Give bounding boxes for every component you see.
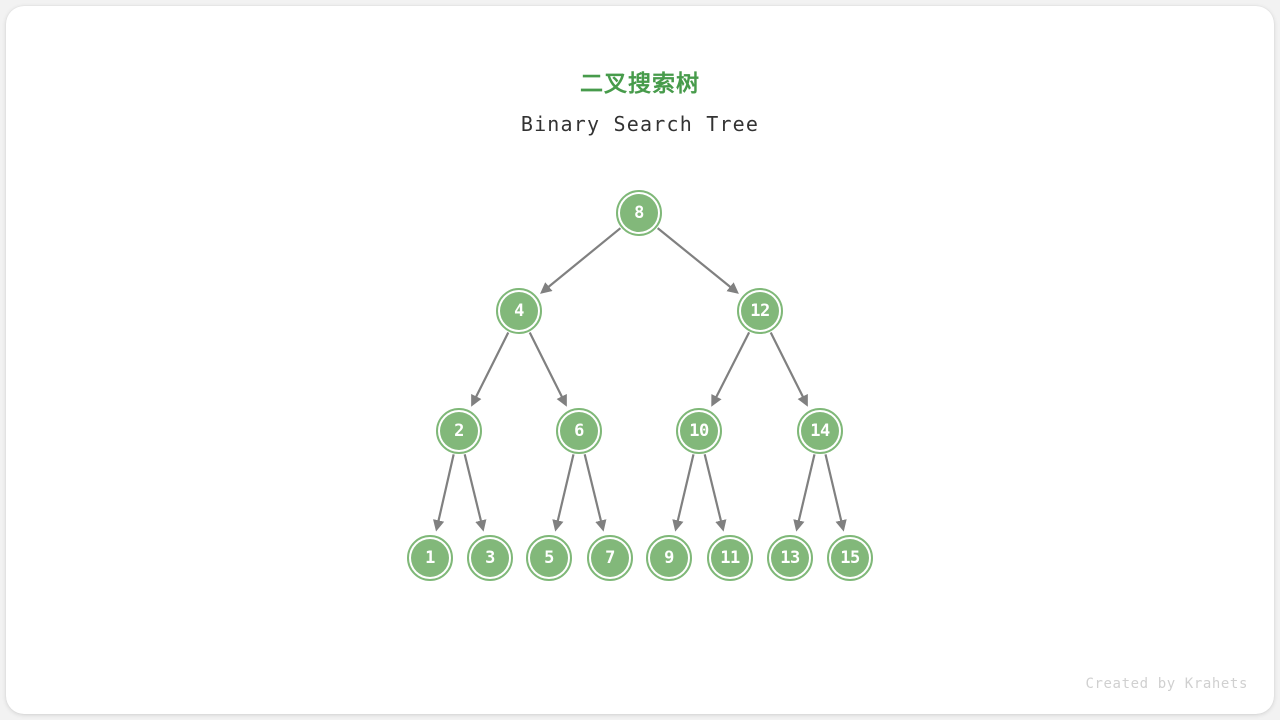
tree-edge-8-to-12 xyxy=(658,228,737,292)
tree-node-label: 15 xyxy=(829,537,871,579)
tree-node-11[interactable]: 11 xyxy=(707,535,753,581)
tree-edge-2-to-3 xyxy=(465,454,483,529)
tree-edges-layer xyxy=(6,6,1274,714)
tree-node-label: 14 xyxy=(799,410,841,452)
tree-node-label: 8 xyxy=(618,192,660,234)
tree-edge-10-to-11 xyxy=(705,454,723,529)
diagram-card: 二叉搜索树 Binary Search Tree 841226101413579… xyxy=(6,6,1274,714)
tree-edge-12-to-14 xyxy=(771,332,807,404)
tree-node-label: 2 xyxy=(438,410,480,452)
tree-node-8[interactable]: 8 xyxy=(616,190,662,236)
tree-node-label: 13 xyxy=(769,537,811,579)
tree-edge-8-to-4 xyxy=(542,228,620,292)
tree-node-label: 10 xyxy=(678,410,720,452)
tree-node-4[interactable]: 4 xyxy=(496,288,542,334)
tree-edge-10-to-9 xyxy=(676,454,694,528)
tree-edge-4-to-2 xyxy=(472,332,508,404)
tree-node-10[interactable]: 10 xyxy=(676,408,722,454)
tree-node-5[interactable]: 5 xyxy=(526,535,572,581)
tree-node-6[interactable]: 6 xyxy=(556,408,602,454)
tree-node-label: 11 xyxy=(709,537,751,579)
tree-edge-12-to-10 xyxy=(713,332,750,404)
tree-node-3[interactable]: 3 xyxy=(467,535,513,581)
tree-edge-6-to-7 xyxy=(585,454,603,529)
tree-node-label: 3 xyxy=(469,537,511,579)
page-root: 二叉搜索树 Binary Search Tree 841226101413579… xyxy=(0,0,1280,720)
tree-node-1[interactable]: 1 xyxy=(407,535,453,581)
tree-node-label: 7 xyxy=(589,537,631,579)
tree-edge-6-to-5 xyxy=(556,454,574,528)
credit-text: Created by Krahets xyxy=(1085,676,1248,692)
tree-node-label: 6 xyxy=(558,410,600,452)
binary-search-tree-diagram: 841226101413579111315 xyxy=(6,6,1274,714)
tree-node-9[interactable]: 9 xyxy=(646,535,692,581)
tree-edge-14-to-13 xyxy=(797,454,815,528)
tree-node-12[interactable]: 12 xyxy=(737,288,783,334)
tree-node-13[interactable]: 13 xyxy=(767,535,813,581)
tree-node-label: 5 xyxy=(528,537,570,579)
tree-node-label: 4 xyxy=(498,290,540,332)
tree-node-label: 1 xyxy=(409,537,451,579)
tree-node-15[interactable]: 15 xyxy=(827,535,873,581)
tree-node-label: 9 xyxy=(648,537,690,579)
tree-node-7[interactable]: 7 xyxy=(587,535,633,581)
tree-edge-4-to-6 xyxy=(530,332,566,404)
tree-edge-2-to-1 xyxy=(437,454,454,528)
tree-node-14[interactable]: 14 xyxy=(797,408,843,454)
tree-edge-14-to-15 xyxy=(826,454,844,528)
tree-edge-group xyxy=(437,228,843,529)
tree-node-label: 12 xyxy=(739,290,781,332)
tree-node-2[interactable]: 2 xyxy=(436,408,482,454)
